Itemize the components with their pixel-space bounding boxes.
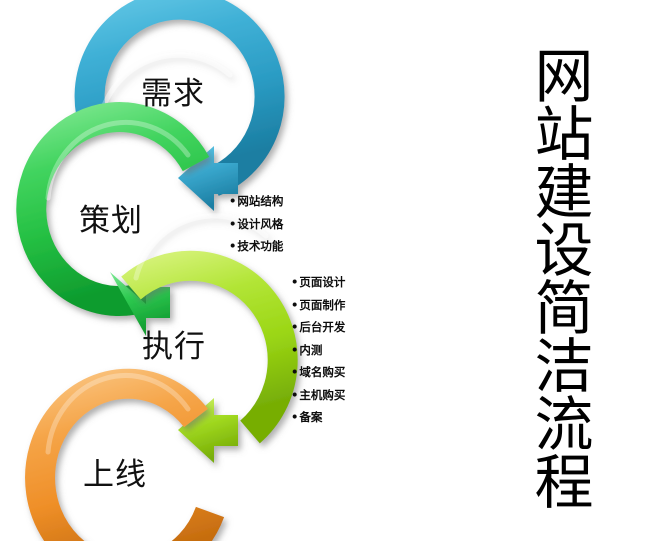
list-item: •网站结构 [229, 196, 283, 208]
list-item-label: 域名购买 [299, 365, 345, 379]
bullet-list-planning: •网站结构 •设计风格 •技术功能 [229, 196, 283, 264]
list-item: •内测 [291, 345, 345, 357]
title-char: 简 [527, 280, 601, 338]
title-char: 设 [527, 222, 601, 280]
list-item-label: 备案 [299, 410, 322, 424]
bullet-dot-icon: • [229, 219, 236, 231]
stage-label-planning: 策划 [79, 206, 143, 237]
list-item-label: 设计风格 [237, 217, 283, 231]
list-item-label: 主机购买 [299, 388, 345, 402]
list-item: •后台开发 [291, 322, 345, 334]
title-char: 网 [527, 48, 601, 106]
title-char: 程 [527, 454, 601, 512]
process-diagram: 需求 策划 执行 上线 [0, 0, 500, 541]
list-item: •技术功能 [229, 241, 283, 253]
bullet-dot-icon: • [229, 241, 236, 253]
list-item: •备案 [291, 412, 345, 424]
title-char: 流 [527, 396, 601, 454]
bullet-dot-icon: • [291, 345, 298, 357]
page-title: 网 站 建 设 简 洁 流 程 [527, 48, 601, 512]
bullet-dot-icon: • [229, 196, 236, 208]
list-item-label: 页面设计 [299, 275, 345, 289]
stage-label-requirement: 需求 [141, 79, 205, 110]
stage-label-execution: 执行 [142, 332, 206, 363]
list-item: •页面设计 [291, 277, 345, 289]
list-item: •设计风格 [229, 219, 283, 231]
bullet-dot-icon: • [291, 412, 298, 424]
bullet-list-execution: •页面设计 •页面制作 •后台开发 •内测 •域名购买 •主机购买 •备案 [291, 277, 345, 435]
title-char: 建 [527, 164, 601, 222]
bullet-dot-icon: • [291, 367, 298, 379]
list-item-label: 后台开发 [299, 320, 345, 334]
list-item-label: 页面制作 [299, 298, 345, 312]
list-item-label: 内测 [299, 343, 322, 357]
list-item: •域名购买 [291, 367, 345, 379]
bullet-dot-icon: • [291, 390, 298, 402]
title-char: 站 [527, 106, 601, 164]
bullet-dot-icon: • [291, 277, 298, 289]
slide-canvas: 需求 策划 执行 上线 •网站结构 •设计风格 •技术功能 •页面设计 •页面制… [0, 0, 655, 541]
title-char: 洁 [527, 338, 601, 396]
stage-label-launch: 上线 [83, 460, 147, 491]
bullet-dot-icon: • [291, 300, 298, 312]
bullet-dot-icon: • [291, 322, 298, 334]
list-item: •页面制作 [291, 300, 345, 312]
list-item-label: 技术功能 [237, 239, 283, 253]
list-item-label: 网站结构 [237, 194, 283, 208]
list-item: •主机购买 [291, 390, 345, 402]
